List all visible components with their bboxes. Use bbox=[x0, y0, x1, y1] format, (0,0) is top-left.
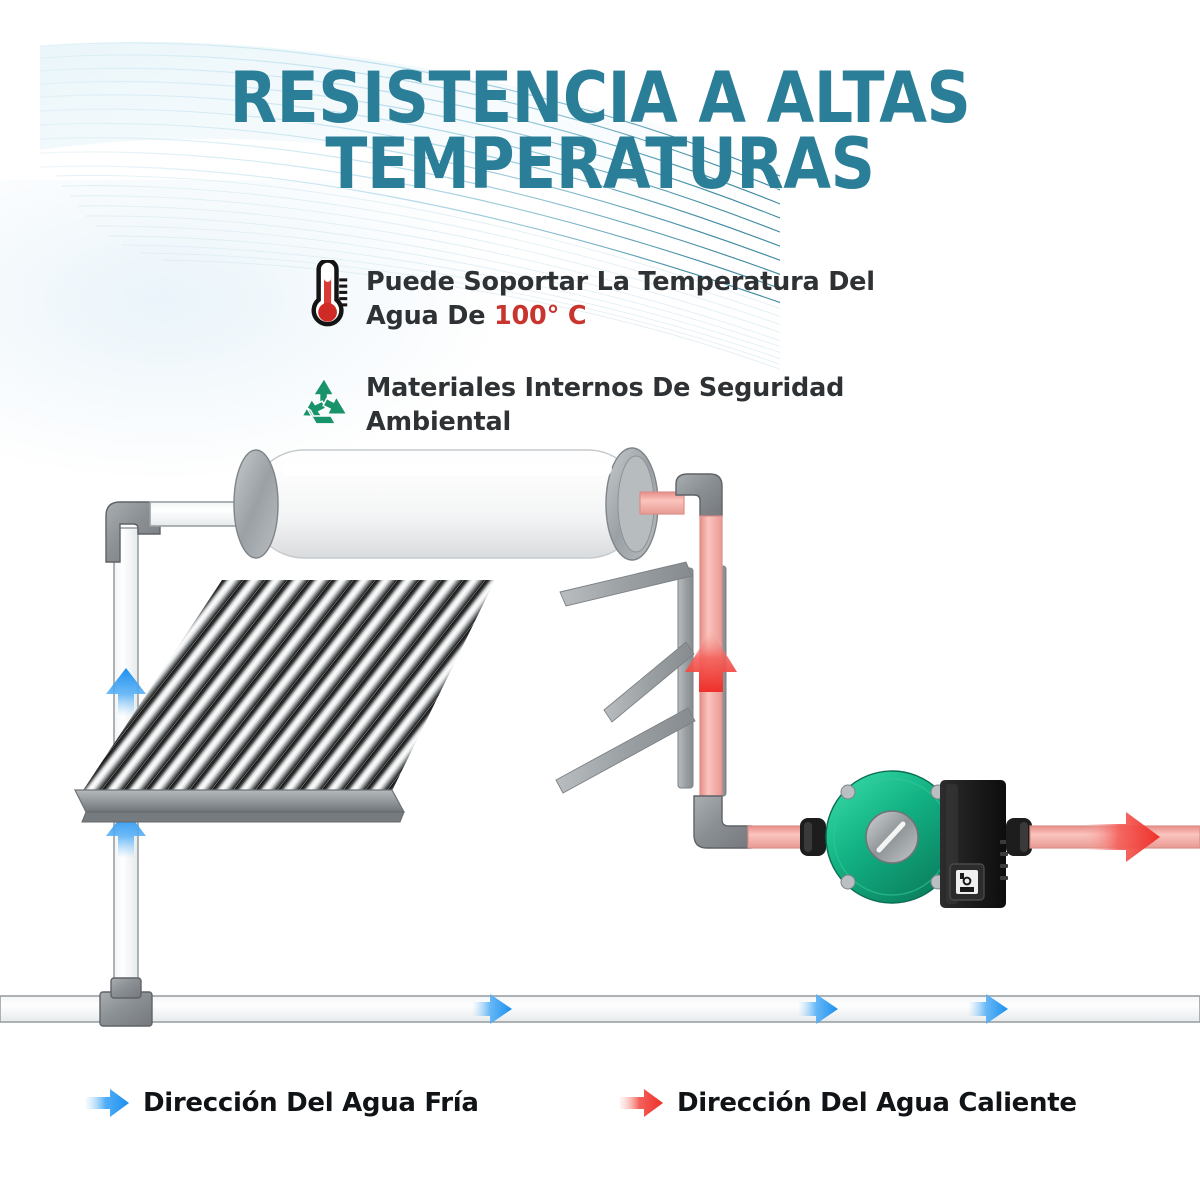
feature-temperature-label: Puede Soportar La Temperatura Del Agua D… bbox=[366, 256, 936, 334]
product-feature-card: RESISTENCIA A ALTAS TEMPERATURAS bbox=[0, 0, 1200, 1200]
recycle-icon bbox=[296, 368, 352, 436]
circulation-pump bbox=[800, 771, 1032, 908]
solar-heater-diagram bbox=[0, 440, 1200, 1080]
red-right-arrow-icon bbox=[618, 1086, 664, 1120]
legend-item-hot: Dirección Del Agua Caliente bbox=[618, 1086, 1077, 1120]
temperature-value: 100° C bbox=[494, 301, 586, 331]
cold-bottom-pipe bbox=[0, 996, 1200, 1022]
page-title: RESISTENCIA A ALTAS TEMPERATURAS bbox=[72, 66, 1128, 198]
legend-label-hot: Dirección Del Agua Caliente bbox=[677, 1088, 1077, 1118]
feature-eco-label: Materiales Internos De Seguridad Ambient… bbox=[366, 368, 936, 440]
feature-temperature-prefix: Puede Soportar La Temperatura Del Agua D… bbox=[366, 267, 875, 331]
evacuated-tube-collector bbox=[33, 560, 771, 832]
feature-eco-materials: Materiales Internos De Seguridad Ambient… bbox=[296, 368, 936, 440]
hot-flow-arrow-outlet bbox=[1084, 812, 1160, 862]
thermometer-icon bbox=[296, 256, 352, 340]
feature-temperature: Puede Soportar La Temperatura Del Agua D… bbox=[296, 256, 936, 340]
flow-legend: Dirección Del Agua Fría Dirección Del Ag… bbox=[0, 1086, 1200, 1146]
blue-right-arrow-icon bbox=[84, 1086, 130, 1120]
feature-list: Puede Soportar La Temperatura Del Agua D… bbox=[296, 256, 936, 468]
tee-fitting-bottom-left bbox=[100, 978, 152, 1026]
legend-item-cold: Dirección Del Agua Fría bbox=[84, 1086, 479, 1120]
storage-tank bbox=[234, 448, 658, 560]
legend-label-cold: Dirección Del Agua Fría bbox=[143, 1088, 479, 1118]
